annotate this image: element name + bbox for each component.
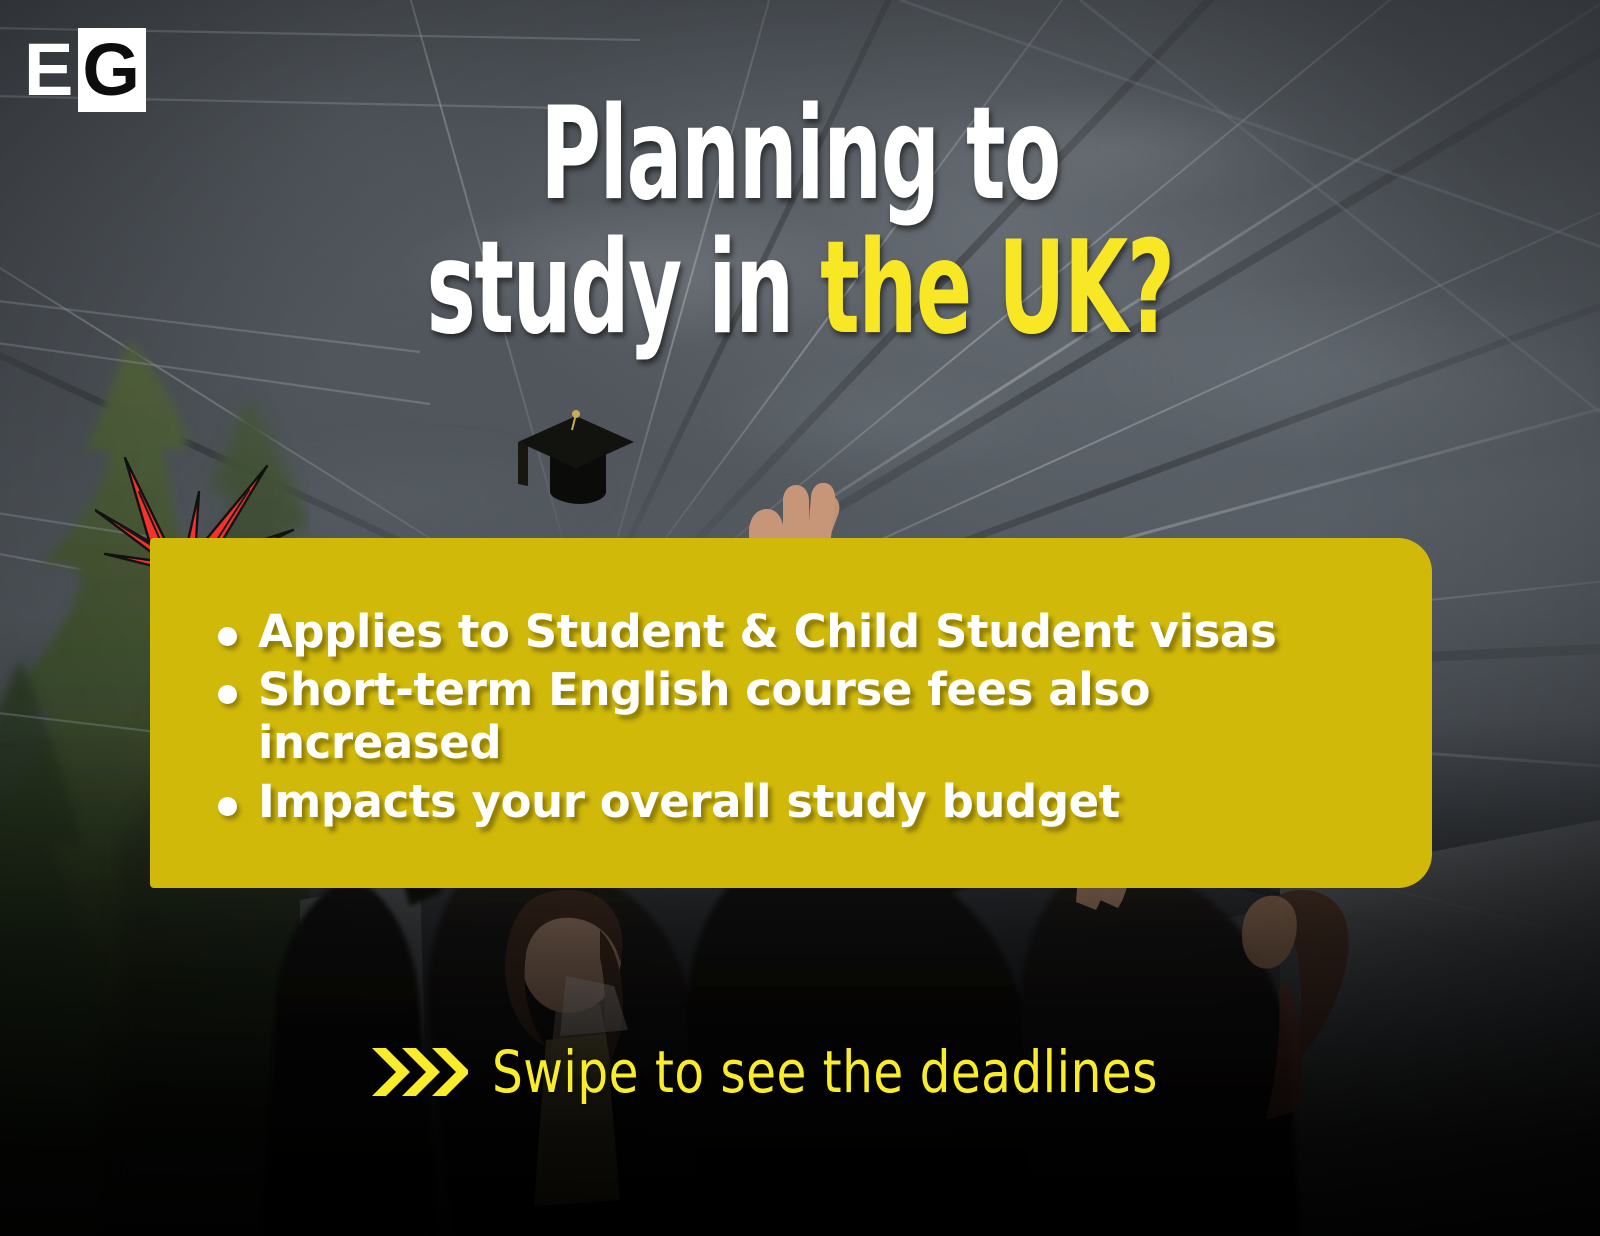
headline-line-1: Planning to (224, 96, 1376, 214)
list-item: Impacts your overall study budget (192, 776, 1392, 829)
list-item: Short-term English course fees also incr… (192, 664, 1392, 769)
poster-canvas: E G Planning to study in the UK? (0, 0, 1600, 1236)
headline-line-2-plain: study in (427, 214, 821, 363)
bullet-card: Applies to Student & Child Student visas… (150, 538, 1432, 888)
headline-line-2: study in the UK? (224, 230, 1376, 348)
swipe-label: Swipe to see the deadlines (492, 1038, 1158, 1106)
logo-letter-e: E (22, 28, 76, 112)
swipe-cta[interactable]: Swipe to see the deadlines (370, 1038, 1208, 1106)
list-item: Applies to Student & Child Student visas (192, 606, 1392, 659)
logo-letter-g: G (78, 28, 146, 112)
chevron-right-icon (370, 1044, 468, 1100)
eg-logo[interactable]: E G (22, 28, 146, 112)
page-title: Planning to study in the UK? (0, 96, 1600, 348)
headline-line-2-accent: the UK? (820, 214, 1173, 363)
bullet-list: Applies to Student & Child Student visas… (192, 606, 1392, 829)
